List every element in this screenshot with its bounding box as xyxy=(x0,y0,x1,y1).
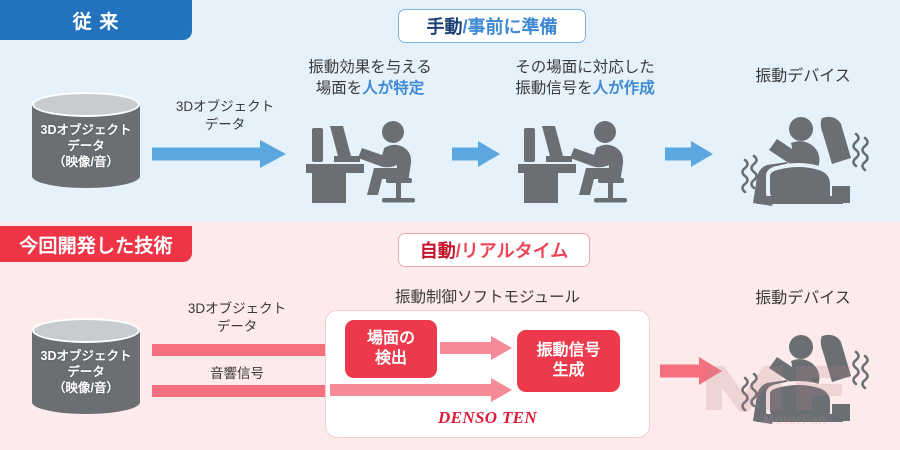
arrow-head xyxy=(699,357,722,385)
denso-ten-logo: DENSO TEN xyxy=(325,408,650,428)
arrow-step2-to-device xyxy=(665,140,713,168)
arrow-shaft xyxy=(152,344,330,356)
diagram-root: 従 来 手動/事前に準備 3Dオブジェクト データ （映像/音） 3Dオブジェク… xyxy=(0,0,900,450)
caption-step2-line2: 振動信号を人が作成 xyxy=(482,79,688,100)
caption-step1-line1: 振動効果を与える xyxy=(272,58,468,79)
process-box-signal-generation: 振動信号 生成 xyxy=(517,330,620,392)
person-at-desk-icon-2 xyxy=(512,112,632,204)
arrow-head xyxy=(491,336,512,360)
process-detect-line2: 検出 xyxy=(367,349,415,369)
caption-step1-highlight: 人が特定 xyxy=(362,80,424,97)
process-box-scene-detection: 場面の 検出 xyxy=(345,320,437,378)
process-generate-line2: 生成 xyxy=(536,361,600,381)
flow-label-top-line1: 3Dオブジェクト xyxy=(162,300,312,318)
database-cylinder-conventional: 3Dオブジェクト データ （映像/音） xyxy=(32,92,140,188)
process-generate-line1: 振動信号 xyxy=(536,341,600,361)
flow-label-conventional: 3Dオブジェクト データ xyxy=(155,98,295,134)
caption-step1-plain: 場面を xyxy=(316,80,363,97)
cylinder-label-line1: 3Dオブジェクト xyxy=(32,122,140,138)
module-title: 振動制御ソフトモジュール xyxy=(325,285,650,307)
cylinder-label-line3: （映像/音） xyxy=(32,154,140,170)
cylinder-label-line1: 3Dオブジェクト xyxy=(32,348,140,364)
arrow-shaft xyxy=(440,342,492,354)
arrow-head xyxy=(691,141,713,167)
caption-step2-conventional: その場面に対応した 振動信号を人が作成 xyxy=(482,58,688,100)
cylinder-label-new: 3Dオブジェクト データ （映像/音） xyxy=(32,348,140,396)
process-detect-line1: 場面の xyxy=(367,329,415,349)
flow-label-line2: データ xyxy=(155,116,295,134)
person-at-desk-icon-1 xyxy=(300,112,420,204)
ribbon-conventional: 従 来 xyxy=(0,0,192,40)
arrow-audio-to-module xyxy=(152,378,352,404)
arrow-shaft xyxy=(152,148,262,161)
badge-manual-part2: /事前に準備 xyxy=(462,13,557,39)
massage-chair-icon-new xyxy=(725,330,880,426)
cylinder-top xyxy=(32,92,140,117)
arrow-shaft xyxy=(452,148,480,161)
cylinder-label-line2: データ xyxy=(32,364,140,380)
arrow-shaft xyxy=(660,365,700,378)
badge-manual-prepared: 手動/事前に準備 xyxy=(398,9,586,43)
arrow-data-to-step1 xyxy=(152,140,286,168)
caption-step2-highlight: 人が作成 xyxy=(593,80,655,97)
badge-manual-part1: 手動 xyxy=(426,13,462,39)
arrow-head xyxy=(260,140,286,168)
device-label-conventional: 振動デバイス xyxy=(718,62,888,86)
cylinder-top xyxy=(32,318,140,343)
device-label-new: 振動デバイス xyxy=(718,284,888,308)
flow-label-top-line2: データ xyxy=(162,318,312,336)
cylinder-label-line3: （映像/音） xyxy=(32,380,140,396)
flow-label-3d-object-new: 3Dオブジェクト データ xyxy=(162,300,312,336)
ribbon-new-technology: 今回開発した技術 xyxy=(0,226,192,262)
caption-step1-line2: 場面を人が特定 xyxy=(272,79,468,100)
cylinder-label-line2: データ xyxy=(32,138,140,154)
arrow-detect-to-generate xyxy=(440,336,512,360)
arrow-shaft xyxy=(665,148,693,161)
arrow-audio-direct-to-generate xyxy=(330,378,512,402)
badge-auto-part2: /リアルタイム xyxy=(456,237,568,263)
arrow-shaft xyxy=(152,385,330,397)
caption-step1-conventional: 振動効果を与える 場面を人が特定 xyxy=(272,58,468,100)
database-cylinder-new: 3Dオブジェクト データ （映像/音） xyxy=(32,318,140,414)
process-detect-text: 場面の 検出 xyxy=(367,329,415,369)
caption-step2-line1: その場面に対応した xyxy=(482,58,688,79)
arrow-shaft xyxy=(330,384,492,396)
arrow-head xyxy=(491,378,512,402)
process-generate-text: 振動信号 生成 xyxy=(536,341,600,381)
arrow-3d-object-to-module xyxy=(152,337,352,363)
flow-label-line1: 3Dオブジェクト xyxy=(155,98,295,116)
caption-step2-plain: 振動信号を xyxy=(515,80,593,97)
massage-chair-icon-conventional xyxy=(725,112,880,208)
badge-auto-part1: 自動 xyxy=(420,237,456,263)
arrow-step1-to-step2 xyxy=(452,140,500,168)
cylinder-label-conventional: 3Dオブジェクト データ （映像/音） xyxy=(32,122,140,170)
badge-auto-realtime: 自動/リアルタイム xyxy=(398,233,590,267)
arrow-head xyxy=(478,141,500,167)
arrow-module-to-device xyxy=(660,357,722,385)
